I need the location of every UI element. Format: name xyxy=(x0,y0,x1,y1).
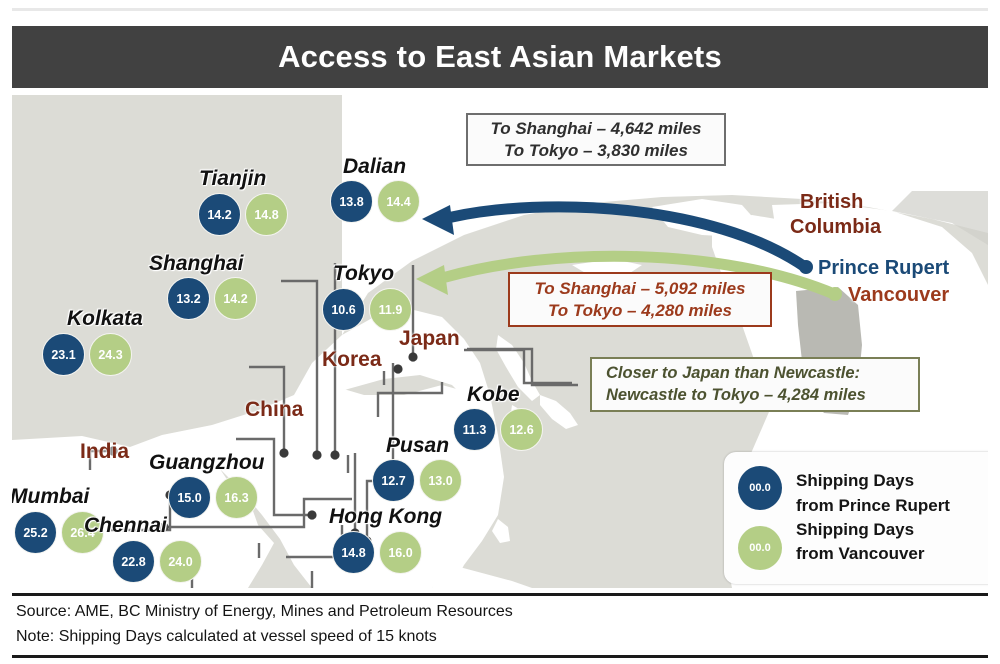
legend-labels: Shipping Days from Prince Rupert Shippin… xyxy=(796,470,950,566)
map-panel: To Shanghai – 4,642 miles To Tokyo – 3,8… xyxy=(12,95,988,588)
callout-pr-line2: To Tokyo – 3,830 miles xyxy=(504,140,688,162)
legend-swatch-vancouver: 00.0 xyxy=(738,526,782,570)
bubble-prince-rupert-shanghai: 13.2 xyxy=(167,277,210,320)
bubble-prince-rupert-tokyo: 10.6 xyxy=(322,288,365,331)
bubble-prince-rupert-chennai: 22.8 xyxy=(112,540,155,583)
callout-newcastle-line1: Closer to Japan than Newcastle: xyxy=(606,363,860,384)
city-label-tianjin: Tianjin xyxy=(199,167,266,191)
bubble-vancouver-kolkata: 24.3 xyxy=(89,333,132,376)
province-label-british: British xyxy=(800,191,863,214)
footer-notes: Source: AME, BC Ministry of Energy, Mine… xyxy=(16,600,976,650)
bubble-vancouver-shanghai: 14.2 xyxy=(214,277,257,320)
country-label-china: China xyxy=(245,398,303,422)
callout-vancouver-distances: To Shanghai – 5,092 miles To Tokyo – 4,2… xyxy=(508,272,772,327)
city-label-tokyo: Tokyo xyxy=(333,262,394,286)
country-label-korea: Korea xyxy=(322,348,382,372)
port-label-prince-rupert: Prince Rupert xyxy=(818,257,949,280)
bubble-prince-rupert-kolkata: 23.1 xyxy=(42,333,85,376)
legend-swatches: 00.0 00.0 xyxy=(738,466,782,570)
page-title: Access to East Asian Markets xyxy=(278,39,722,75)
footer-source: Source: AME, BC Ministry of Energy, Mine… xyxy=(16,600,976,625)
city-bubbles-chennai: 22.8 24.0 xyxy=(112,540,202,583)
footer-note: Note: Shipping Days calculated at vessel… xyxy=(16,625,976,650)
city-bubbles-shanghai: 13.2 14.2 xyxy=(167,277,257,320)
city-bubbles-kobe: 11.3 12.6 xyxy=(453,408,543,451)
city-bubbles-kolkata: 23.1 24.3 xyxy=(42,333,132,376)
bubble-prince-rupert-pusan: 12.7 xyxy=(372,459,415,502)
city-label-chennai: Chennai xyxy=(84,514,167,538)
legend-label-van-line2: from Vancouver xyxy=(796,543,950,565)
bubble-vancouver-dalian: 14.4 xyxy=(377,180,420,223)
title-bar: Access to East Asian Markets xyxy=(12,26,988,88)
legend-swatch-prince-rupert: 00.0 xyxy=(738,466,782,510)
bubble-vancouver-tianjin: 14.8 xyxy=(245,193,288,236)
city-label-dalian: Dalian xyxy=(343,155,406,179)
city-bubbles-tianjin: 14.2 14.8 xyxy=(198,193,288,236)
vancouver-port-dot xyxy=(828,287,842,301)
bubble-prince-rupert-hong-kong: 14.8 xyxy=(332,531,375,574)
bubble-vancouver-kobe: 12.6 xyxy=(500,408,543,451)
city-bubbles-hong-kong: 14.8 16.0 xyxy=(332,531,422,574)
callout-newcastle-comparison: Closer to Japan than Newcastle: Newcastl… xyxy=(590,357,920,412)
bubble-vancouver-pusan: 13.0 xyxy=(419,459,462,502)
bubble-vancouver-tokyo: 11.9 xyxy=(369,288,412,331)
callout-newcastle-line2: Newcastle to Tokyo – 4,284 miles xyxy=(606,385,866,406)
city-bubbles-tokyo: 10.6 11.9 xyxy=(322,288,412,331)
callout-van-line1: To Shanghai – 5,092 miles xyxy=(534,278,745,300)
legend-box: 00.0 00.0 Shipping Days from Prince Rupe… xyxy=(724,452,988,584)
bubble-vancouver-hong-kong: 16.0 xyxy=(379,531,422,574)
city-label-hong-kong: Hong Kong xyxy=(329,505,442,529)
province-label-columbia: Columbia xyxy=(790,216,881,239)
top-divider xyxy=(12,8,988,11)
city-label-shanghai: Shanghai xyxy=(149,252,244,276)
port-label-vancouver: Vancouver xyxy=(848,284,949,307)
bubble-prince-rupert-dalian: 13.8 xyxy=(330,180,373,223)
country-label-india: India xyxy=(80,440,129,464)
infographic-page: Access to East Asian Markets xyxy=(0,0,1000,664)
bubble-vancouver-guangzhou: 16.3 xyxy=(215,476,258,519)
city-bubbles-pusan: 12.7 13.0 xyxy=(372,459,462,502)
legend-label-pr-line2: from Prince Rupert xyxy=(796,495,950,517)
bubble-prince-rupert-tianjin: 14.2 xyxy=(198,193,241,236)
callout-pr-line1: To Shanghai – 4,642 miles xyxy=(490,118,701,140)
city-label-kobe: Kobe xyxy=(467,383,520,407)
callout-van-line2: To Tokyo – 4,280 miles xyxy=(548,300,732,322)
country-label-japan: Japan xyxy=(399,327,460,351)
callout-prince-rupert-distances: To Shanghai – 4,642 miles To Tokyo – 3,8… xyxy=(466,113,726,166)
city-label-kolkata: Kolkata xyxy=(67,307,143,331)
prince-rupert-port-dot xyxy=(799,260,813,274)
legend-label-van-line1: Shipping Days xyxy=(796,519,950,541)
legend-label-pr-line1: Shipping Days xyxy=(796,470,950,492)
city-label-guangzhou: Guangzhou xyxy=(149,451,264,475)
bubble-prince-rupert-mumbai: 25.2 xyxy=(14,511,57,554)
bubble-prince-rupert-guangzhou: 15.0 xyxy=(168,476,211,519)
city-bubbles-guangzhou: 15.0 16.3 xyxy=(168,476,258,519)
bubble-vancouver-chennai: 24.0 xyxy=(159,540,202,583)
city-label-mumbai: Mumbai xyxy=(12,485,89,509)
bubble-prince-rupert-kobe: 11.3 xyxy=(453,408,496,451)
city-bubbles-dalian: 13.8 14.4 xyxy=(330,180,420,223)
footer-divider-top xyxy=(12,593,988,596)
city-label-pusan: Pusan xyxy=(386,434,449,458)
footer-divider-bottom xyxy=(12,655,988,658)
